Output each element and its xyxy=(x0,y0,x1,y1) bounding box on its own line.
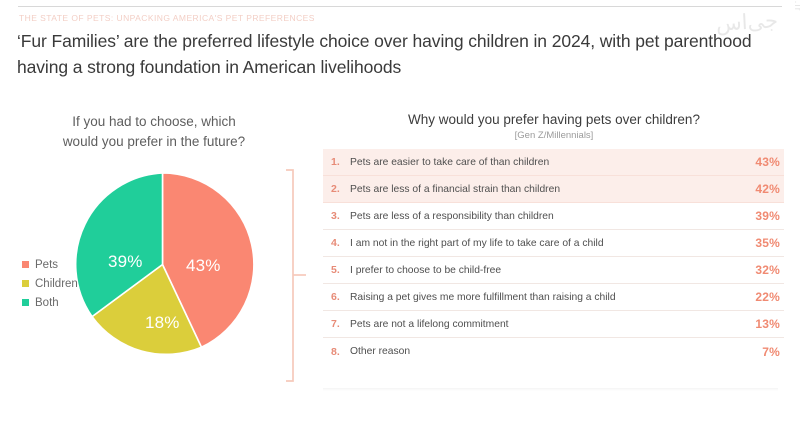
row-value: 42% xyxy=(740,182,780,196)
table-row[interactable]: 5. I prefer to choose to be child-free 3… xyxy=(323,257,784,284)
row-label: Pets are less of a responsibility than c… xyxy=(350,211,740,222)
eyebrow-kicker: THE STATE OF PETS: UNPACKING AMERICA'S P… xyxy=(19,13,315,23)
reasons-list-rows: 1. Pets are easier to take care of than … xyxy=(323,149,784,365)
table-row[interactable]: 6. Raising a pet gives me more fulfillme… xyxy=(323,284,784,311)
legend-label-pets: Pets xyxy=(35,259,58,271)
legend-label-both: Both xyxy=(35,297,59,309)
row-rank: 1. xyxy=(331,156,350,168)
pie-chart-title: If you had to choose, which would you pr… xyxy=(8,112,300,152)
row-value: 13% xyxy=(740,317,780,331)
bracket-svg xyxy=(278,168,310,383)
reasons-list-title: Why would you prefer having pets over ch… xyxy=(318,112,790,127)
legend-item-pets[interactable]: Pets xyxy=(22,255,108,274)
row-value: 22% xyxy=(740,290,780,304)
table-row[interactable]: 4. I am not in the right part of my life… xyxy=(323,230,784,257)
reasons-list-panel: Why would you prefer having pets over ch… xyxy=(318,112,790,402)
pie-label-pets: 43% xyxy=(186,256,221,276)
row-rank: 7. xyxy=(331,318,350,330)
legend-item-children[interactable]: Children xyxy=(22,274,108,293)
watermark-vertical-text: jsnews.ir xyxy=(792,0,800,12)
row-label: I am not in the right part of my life to… xyxy=(350,238,740,249)
pie-label-both: 39% xyxy=(108,252,143,272)
row-rank: 4. xyxy=(331,237,350,249)
legend-swatch-both xyxy=(22,299,29,306)
row-label: Other reason xyxy=(350,346,740,357)
bracket-connector xyxy=(278,168,310,383)
row-value: 39% xyxy=(740,209,780,223)
row-label: Pets are not a lifelong commitment xyxy=(350,319,740,330)
row-value: 35% xyxy=(740,236,780,250)
table-row[interactable]: 7. Pets are not a lifelong commitment 13… xyxy=(323,311,784,338)
row-rank: 2. xyxy=(331,183,350,195)
pie-chart-panel: If you had to choose, which would you pr… xyxy=(8,112,300,402)
pie-chart-title-line1: If you had to choose, which xyxy=(72,114,236,129)
table-row[interactable]: 1. Pets are easier to take care of than … xyxy=(323,149,784,176)
row-label: Pets are less of a financial strain than… xyxy=(350,184,740,195)
row-label: Raising a pet gives me more fulfillment … xyxy=(350,292,740,303)
row-label: Pets are easier to take care of than chi… xyxy=(350,157,740,168)
row-label: I prefer to choose to be child-free xyxy=(350,265,740,276)
row-value: 43% xyxy=(740,155,780,169)
pie-chart-title-line2: would you prefer in the future? xyxy=(63,134,245,149)
top-divider xyxy=(18,6,782,7)
pie-label-children: 18% xyxy=(145,313,180,333)
legend-swatch-pets xyxy=(22,261,29,268)
row-value: 32% xyxy=(740,263,780,277)
legend-item-both[interactable]: Both xyxy=(22,293,108,312)
reasons-list-subtitle: [Gen Z/Millennials] xyxy=(318,130,790,141)
pie-legend: Pets Children Both xyxy=(22,255,108,312)
legend-swatch-children xyxy=(22,280,29,287)
page-title: ‘Fur Families’ are the preferred lifesty… xyxy=(17,28,783,80)
row-rank: 6. xyxy=(331,291,350,303)
table-row[interactable]: 8. Other reason 7% xyxy=(323,338,784,365)
slide-root: THE STATE OF PETS: UNPACKING AMERICA'S P… xyxy=(0,0,800,426)
row-rank: 3. xyxy=(331,210,350,222)
legend-label-children: Children xyxy=(35,278,78,290)
row-rank: 8. xyxy=(331,346,350,358)
row-value: 7% xyxy=(740,345,780,359)
list-bottom-shadow xyxy=(323,388,778,391)
table-row[interactable]: 2. Pets are less of a financial strain t… xyxy=(323,176,784,203)
table-row[interactable]: 3. Pets are less of a responsibility tha… xyxy=(323,203,784,230)
row-rank: 5. xyxy=(331,264,350,276)
bracket-path xyxy=(286,170,293,381)
